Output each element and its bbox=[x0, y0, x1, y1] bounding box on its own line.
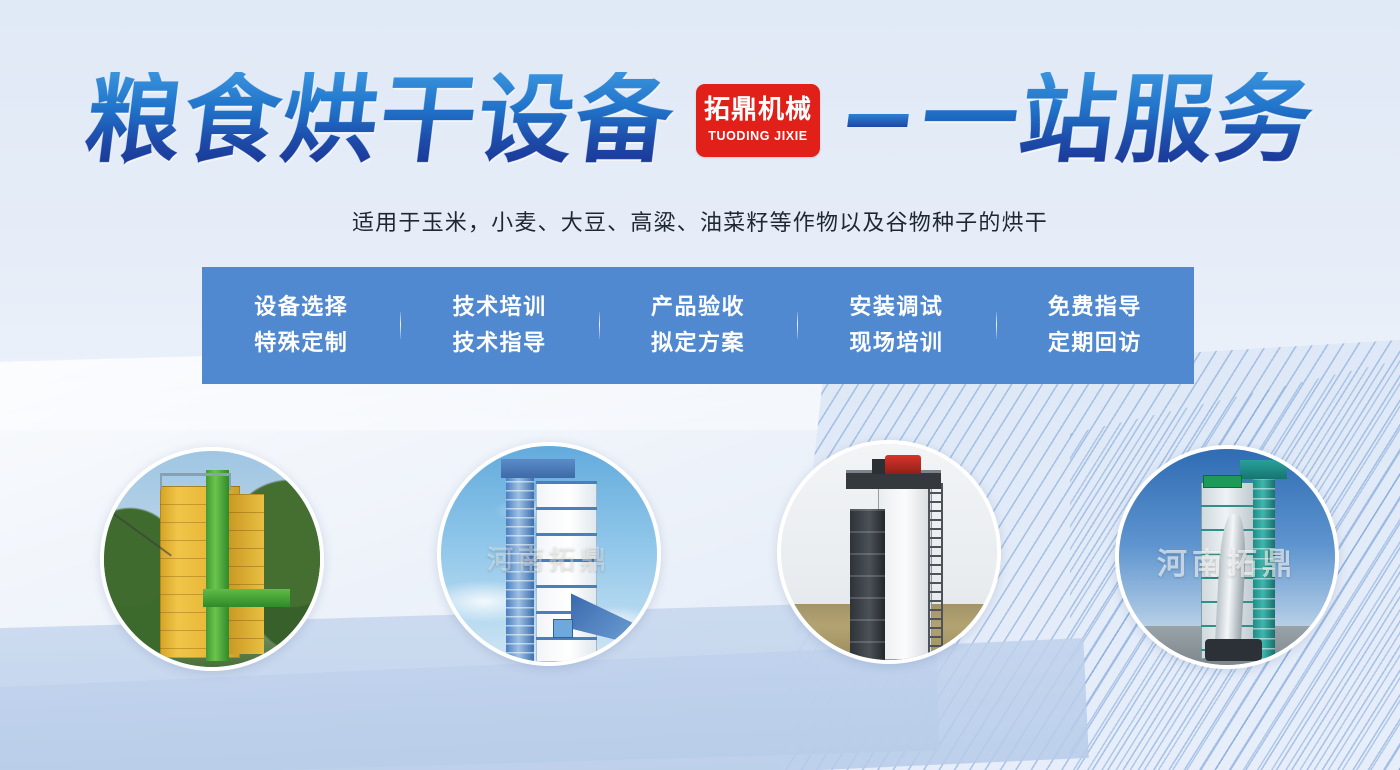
photo-2-content: 河南拓鼎 bbox=[441, 446, 657, 662]
photo-3-content bbox=[781, 444, 997, 660]
headline: 粮食烘干设备 拓鼎机械 TUODING JIXIE 一站服务 bbox=[0, 72, 1400, 168]
photo-1-content bbox=[104, 451, 320, 667]
photo-2-control-panel bbox=[553, 619, 572, 638]
feature-item-3[interactable]: 产品验收 拟定方案 bbox=[599, 294, 797, 357]
banner-stage: 粮食烘干设备 拓鼎机械 TUODING JIXIE 一站服务 适用于玉米，小麦、… bbox=[0, 0, 1400, 770]
feature-bar: 设备选择 特殊定制 技术培训 技术指导 产品验收 拟定方案 安装调试 现场培训 … bbox=[202, 267, 1194, 384]
photo-3-dryer-tower bbox=[878, 479, 932, 660]
photo-4-base bbox=[1205, 639, 1261, 661]
feature-line-5b: 定期回访 bbox=[1048, 330, 1142, 358]
photo-3-red-unit bbox=[885, 455, 922, 474]
feature-line-1a: 设备选择 bbox=[254, 294, 348, 322]
logo-pinyin-name: TUODING JIXIE bbox=[708, 129, 807, 143]
feature-line-5a: 免费指导 bbox=[1048, 294, 1142, 322]
feature-line-3b: 拟定方案 bbox=[651, 330, 745, 358]
photo-1-dryer-body-side bbox=[229, 494, 264, 654]
photo-4-watermark: 河南拓鼎 bbox=[1119, 539, 1335, 583]
feature-item-1[interactable]: 设备选择 特殊定制 bbox=[202, 294, 400, 357]
photo-2-head-section bbox=[501, 459, 574, 478]
photo-1-conveyor-arm bbox=[203, 589, 289, 606]
logo-badge: 拓鼎机械 TUODING JIXIE bbox=[696, 84, 820, 157]
headline-left-text: 粮食烘干设备 bbox=[80, 72, 680, 168]
feature-line-4b: 现场培训 bbox=[849, 330, 943, 358]
photo-1-top-railing bbox=[160, 473, 231, 490]
photo-3-dark-section bbox=[850, 509, 885, 660]
subtitle: 适用于玉米，小麦、大豆、高粱、油菜籽等作物以及谷物种子的烘干 bbox=[0, 205, 1400, 237]
em-dash-icon bbox=[847, 114, 909, 127]
photo-grain-dryer-grey-tower[interactable] bbox=[777, 440, 1001, 664]
feature-item-4[interactable]: 安装调试 现场培训 bbox=[797, 294, 995, 357]
feature-line-2a: 技术培训 bbox=[453, 294, 547, 322]
feature-item-2[interactable]: 技术培训 技术指导 bbox=[400, 294, 598, 357]
photo-2-watermark: 河南拓鼎 bbox=[441, 540, 657, 577]
photo-grain-dryer-yellow-green[interactable] bbox=[100, 447, 324, 671]
feature-line-4a: 安装调试 bbox=[849, 294, 943, 322]
logo-chinese-name: 拓鼎机械 bbox=[704, 97, 812, 124]
photo-4-company-sign bbox=[1203, 475, 1242, 488]
photo-1-elevator-column bbox=[206, 470, 230, 660]
photo-4-head-section bbox=[1240, 460, 1288, 479]
feature-item-5[interactable]: 免费指导 定期回访 bbox=[996, 294, 1194, 357]
feature-line-3a: 产品验收 bbox=[651, 294, 745, 322]
photo-4-content: 河南拓鼎 bbox=[1119, 449, 1335, 665]
photo-grain-dryer-teal-tower[interactable]: 河南拓鼎 bbox=[1115, 445, 1339, 669]
photo-3-ladder bbox=[928, 483, 943, 660]
feature-line-2b: 技术指导 bbox=[453, 330, 547, 358]
photo-grain-dryer-blue-white[interactable]: 河南拓鼎 bbox=[437, 442, 661, 666]
feature-line-1b: 特殊定制 bbox=[254, 330, 348, 358]
headline-right-text: 一站服务 bbox=[916, 72, 1320, 168]
